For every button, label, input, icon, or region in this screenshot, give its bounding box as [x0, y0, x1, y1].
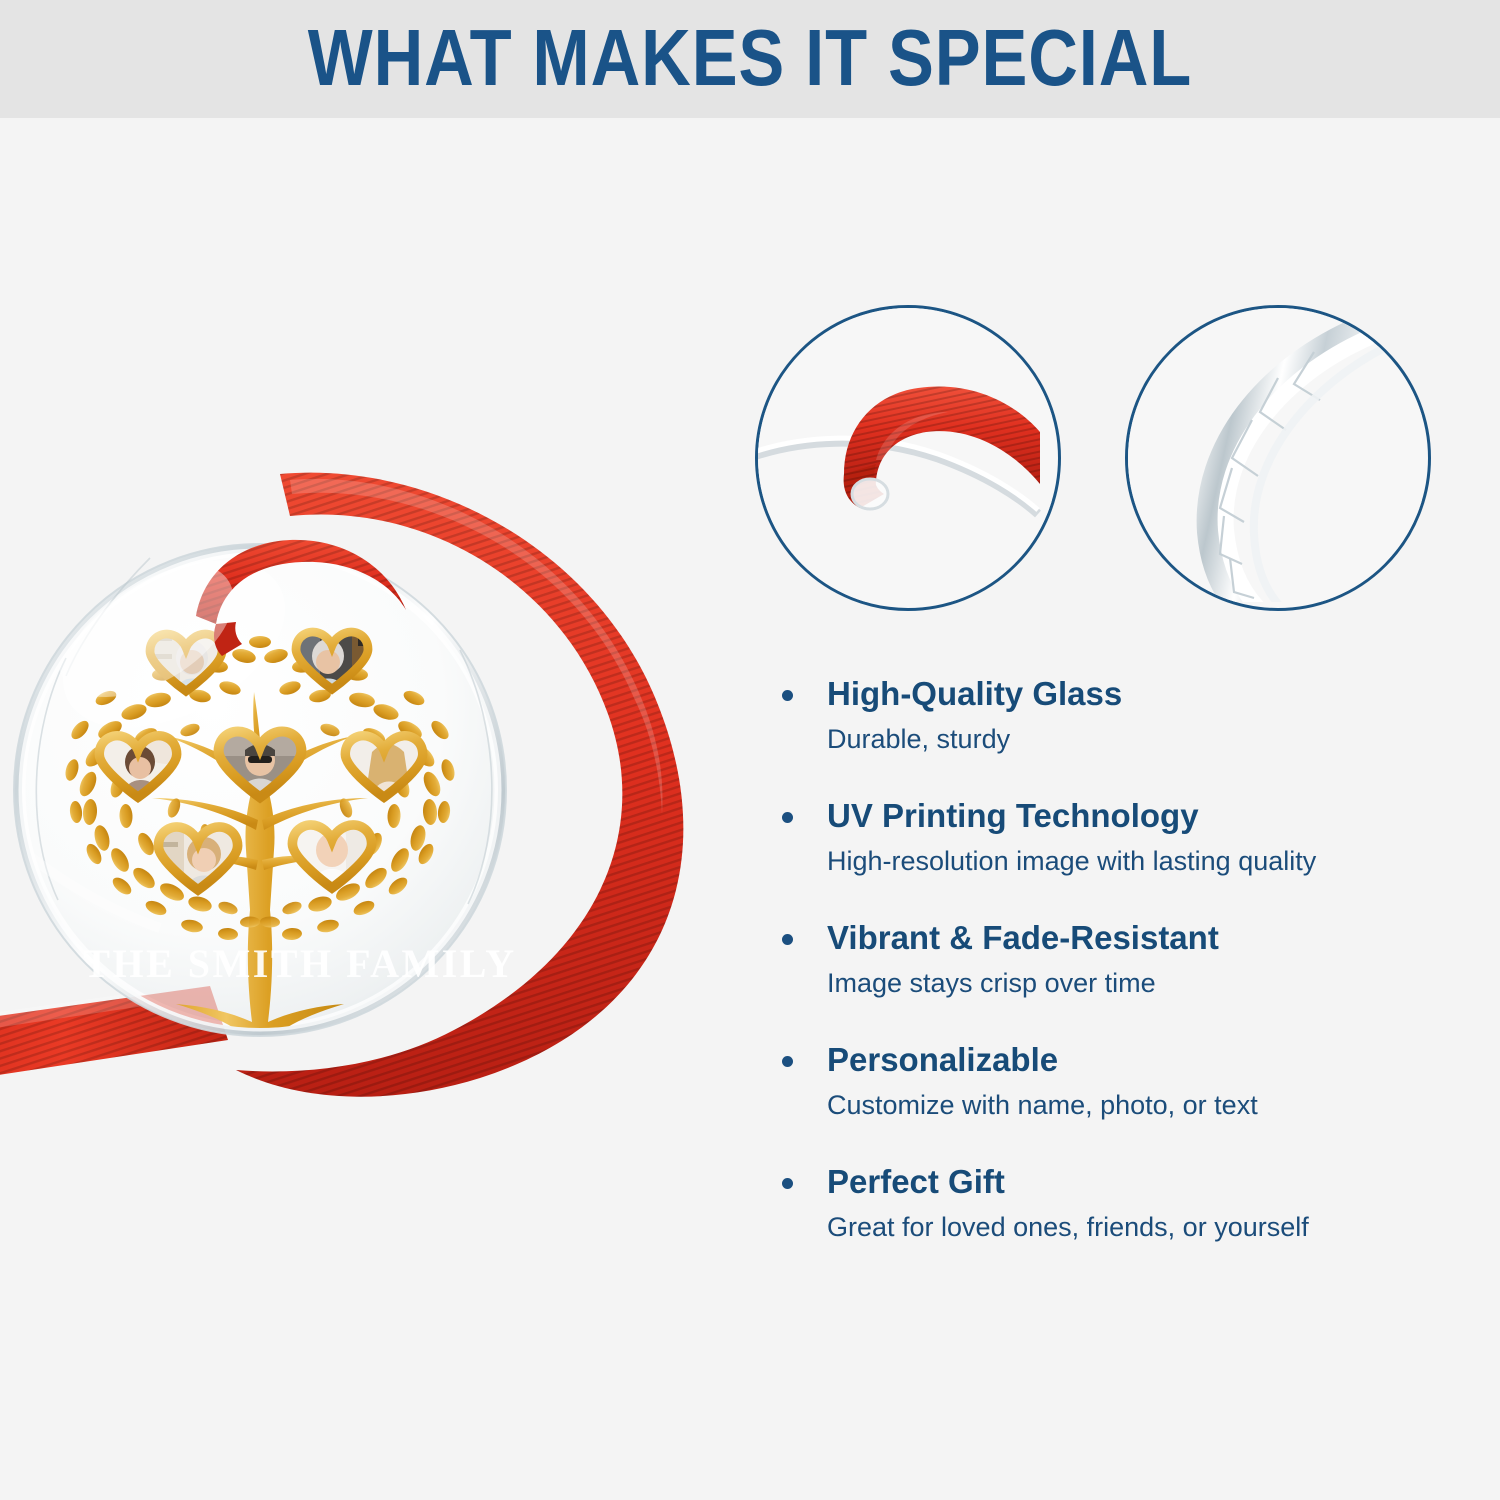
feature-list: High-Quality Glass Durable, sturdy UV Pr… [782, 672, 1442, 1246]
feature-description: Customize with name, photo, or text [827, 1086, 1442, 1124]
bullet-icon [782, 690, 793, 701]
feature-item: Vibrant & Fade-Resistant Image stays cri… [782, 916, 1442, 1002]
feature-description: Image stays crisp over time [827, 964, 1442, 1002]
bullet-icon [782, 812, 793, 823]
feature-description: Durable, sturdy [827, 720, 1442, 758]
callout-ribbon-detail [755, 305, 1061, 611]
detail-callouts [755, 305, 1435, 605]
bullet-icon [782, 1056, 793, 1067]
infographic-page: WHAT MAKES IT SPECIAL [0, 0, 1500, 1500]
feature-item: High-Quality Glass Durable, sturdy [782, 672, 1442, 758]
feature-title: High-Quality Glass [827, 672, 1442, 716]
feature-description: Great for loved ones, friends, or yourse… [827, 1208, 1442, 1246]
feature-title: UV Printing Technology [827, 794, 1442, 838]
page-title: WHAT MAKES IT SPECIAL [105, 14, 1395, 102]
product-image: THE SMITH FAMILY [0, 430, 720, 1170]
feature-item: Personalizable Customize with name, phot… [782, 1038, 1442, 1124]
bullet-icon [782, 934, 793, 945]
feature-title: Personalizable [827, 1038, 1442, 1082]
feature-item: UV Printing Technology High-resolution i… [782, 794, 1442, 880]
callout-beveled-edge-detail [1125, 305, 1431, 611]
feature-title: Perfect Gift [827, 1160, 1442, 1204]
bullet-icon [782, 1178, 793, 1189]
feature-description: High-resolution image with lasting quali… [827, 842, 1442, 880]
feature-item: Perfect Gift Great for loved ones, frien… [782, 1160, 1442, 1246]
feature-title: Vibrant & Fade-Resistant [827, 916, 1442, 960]
